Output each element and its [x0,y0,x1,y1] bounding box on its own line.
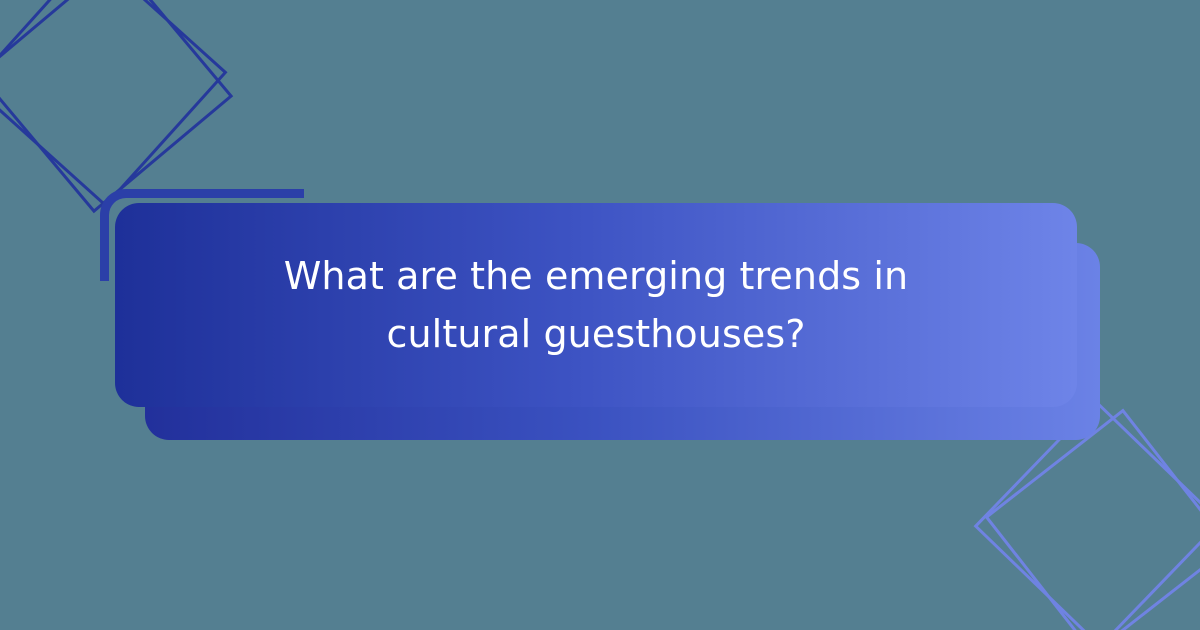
question-text: What are the emerging trends in cultural… [236,247,956,363]
question-card-canvas: What are the emerging trends in cultural… [0,0,1200,630]
rotated-square-outline-icon [984,408,1200,630]
rotated-square-outline-icon [0,0,233,213]
rotated-square-outline-icon [0,0,228,208]
question-card: What are the emerging trends in cultural… [115,203,1077,407]
